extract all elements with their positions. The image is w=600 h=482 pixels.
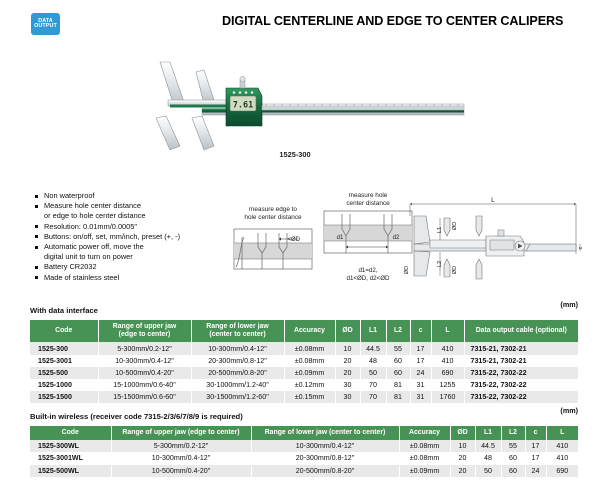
cell-d: 30 xyxy=(335,379,360,391)
svg-text:7.61: 7.61 xyxy=(233,101,253,111)
col-code: Code xyxy=(30,426,111,440)
diagram-caliper-dimensions: L L xyxy=(400,194,586,291)
cell-l2: 55 xyxy=(386,342,410,354)
cell-c: 17 xyxy=(525,440,546,452)
cell-upper: 10-500mm/0.4-20" xyxy=(111,465,251,477)
product-photo: 7.61 xyxy=(140,58,470,163)
cell-l1: 44.5 xyxy=(360,342,386,354)
cell-l2: 60 xyxy=(501,465,525,477)
list-item: Non waterproof xyxy=(34,191,234,201)
table-row: 1525-3001 10-300mm/0.4-12" 20-300mm/0.8-… xyxy=(30,355,578,367)
cell-c: 17 xyxy=(525,452,546,464)
cell-l1: 50 xyxy=(360,367,386,379)
col-l1: L1 xyxy=(360,320,386,342)
cell-l2: 60 xyxy=(386,355,410,367)
col-l: L xyxy=(546,426,578,440)
cell-lower: 10-300mm/0.4-12" xyxy=(191,342,284,354)
col-cable: Data output cable (optional) xyxy=(464,320,578,342)
cell-code: 1525-1500 xyxy=(30,391,98,403)
table-with-data-interface: With data interface (mm) Code Range of u… xyxy=(30,300,578,403)
diagram-OD-label-1: ØD xyxy=(452,222,458,230)
cell-c: 24 xyxy=(410,367,431,379)
table-row: 1525-500 10-500mm/0.4-20" 20-500mm/0.8-2… xyxy=(30,367,578,379)
col-diameter: ØD xyxy=(335,320,360,342)
cell-code: 1525-3001 xyxy=(30,355,98,367)
list-item: Buttons: on/off, set, mm/inch, preset (+… xyxy=(34,232,234,242)
col-l2: L2 xyxy=(386,320,410,342)
table-row: 1525-1000 15-1000mm/0.6-40" 30-1000mm/1.… xyxy=(30,379,578,391)
data-output-badge: DATA OUTPUT xyxy=(31,13,60,35)
cell-l: 1255 xyxy=(431,379,464,391)
cell-cable: 7315-21, 7302-21 xyxy=(464,355,578,367)
list-item: Automatic power off, move the xyxy=(34,242,234,252)
cell-l1: 70 xyxy=(360,391,386,403)
cell-code: 1525-1000 xyxy=(30,379,98,391)
list-item-cont: digital unit to turn on power xyxy=(34,252,234,262)
cell-lower: 30-1000mm/1.2-40" xyxy=(191,379,284,391)
cell-d: 20 xyxy=(335,355,360,367)
diagram-L-label: L xyxy=(491,197,495,204)
cell-code: 1525-300WL xyxy=(30,440,111,452)
cell-cable: 7315-22, 7302-22 xyxy=(464,391,578,403)
diagram-L2-label: L2 xyxy=(437,261,443,267)
cell-lower: 30-1500mm/1.2-60" xyxy=(191,391,284,403)
cell-accuracy: ±0.08mm xyxy=(399,440,450,452)
col-upper-jaw-l1: Range of upper jaw xyxy=(100,323,190,331)
cell-lower: 10-300mm/0.4-12" xyxy=(251,440,399,452)
cell-accuracy: ±0.09mm xyxy=(284,367,335,379)
cell-l: 410 xyxy=(546,452,578,464)
list-item: Resolution: 0.01mm/0.0005" xyxy=(34,222,234,232)
col-lower-jaw: Range of lower jaw (center to center) xyxy=(191,320,284,342)
cell-accuracy: ±0.08mm xyxy=(399,452,450,464)
col-upper-jaw: Range of upper jaw (edge to center) xyxy=(111,426,251,440)
col-c: c xyxy=(525,426,546,440)
diagram-d2-label: d2 xyxy=(393,235,400,241)
cell-accuracy: ±0.12mm xyxy=(284,379,335,391)
cell-cable: 7315-21, 7302-21 xyxy=(464,342,578,354)
col-diameter: ØD xyxy=(450,426,475,440)
cell-l2: 81 xyxy=(386,379,410,391)
cell-l1: 44.5 xyxy=(475,440,501,452)
cell-accuracy: ±0.08mm xyxy=(284,355,335,367)
cell-accuracy: ±0.08mm xyxy=(284,342,335,354)
cell-c: 31 xyxy=(410,391,431,403)
table2-title: Built-in wireless (receiver code 7315-2/… xyxy=(30,412,243,421)
cell-d: 20 xyxy=(450,452,475,464)
diagram-OD-label-3: ØD xyxy=(404,266,410,274)
col-l2: L2 xyxy=(501,426,525,440)
cell-upper: 15-1000mm/0.6-40" xyxy=(98,379,191,391)
cell-upper: 5-300mm/0.2-12" xyxy=(98,342,191,354)
col-lower-jaw: Range of lower jaw (center to center) xyxy=(251,426,399,440)
diagram-c-label: c xyxy=(578,246,584,249)
cell-l2: 55 xyxy=(501,440,525,452)
cell-upper: 10-500mm/0.4-20" xyxy=(98,367,191,379)
cell-l2: 81 xyxy=(386,391,410,403)
col-lower-jaw-l2: (center to center) xyxy=(193,331,283,339)
cell-code: 1525-500WL xyxy=(30,465,111,477)
col-l1: L1 xyxy=(475,426,501,440)
cell-code: 1525-300 xyxy=(30,342,98,354)
col-upper-jaw: Range of upper jaw (edge to center) xyxy=(98,320,191,342)
col-accuracy: Accuracy xyxy=(399,426,450,440)
cell-l: 410 xyxy=(431,342,464,354)
list-item: Made of stainless steel xyxy=(34,273,234,283)
col-upper-jaw-l2: (edge to center) xyxy=(100,331,190,339)
cell-upper: 15-1500mm/0.6-60" xyxy=(98,391,191,403)
cell-l2: 60 xyxy=(386,367,410,379)
cell-upper: 10-300mm/0.4-12" xyxy=(98,355,191,367)
cell-upper: 5-300mm/0.2-12" xyxy=(111,440,251,452)
cell-lower: 20-300mm/0.8-12" xyxy=(251,452,399,464)
cell-lower: 20-500mm/0.8-20" xyxy=(191,367,284,379)
cell-d: 20 xyxy=(335,367,360,379)
cell-cable: 7315-22, 7302-22 xyxy=(464,367,578,379)
cell-l1: 48 xyxy=(475,452,501,464)
col-lower-jaw-l1: Range of lower jaw xyxy=(193,323,283,331)
table2-unit: (mm) xyxy=(560,406,578,415)
table-row: 1525-300WL 5-300mm/0.2-12" 10-300mm/0.4-… xyxy=(30,440,578,452)
cell-c: 31 xyxy=(410,379,431,391)
diagram-edge-caption-2: hole center distance xyxy=(232,214,314,222)
cell-cable: 7315-22, 7302-22 xyxy=(464,379,578,391)
table2-header-row: Code Range of upper jaw (edge to center)… xyxy=(30,426,578,440)
diagram-edge-caption-1: measure edge to xyxy=(232,206,314,214)
technical-diagrams: measure edge to hole center distance <ØD xyxy=(228,192,588,287)
cell-c: 17 xyxy=(410,342,431,354)
data-output-badge-line2: OUTPUT xyxy=(34,24,57,29)
cell-accuracy: ±0.15mm xyxy=(284,391,335,403)
cell-lower: 20-300mm/0.8-12" xyxy=(191,355,284,367)
cell-d: 30 xyxy=(335,391,360,403)
col-c: c xyxy=(410,320,431,342)
table-built-in-wireless: Built-in wireless (receiver code 7315-2/… xyxy=(30,406,578,477)
cell-l: 410 xyxy=(431,355,464,367)
feature-list: Non waterproof Measure hole center dista… xyxy=(34,191,234,283)
table2-body: 1525-300WL 5-300mm/0.2-12" 10-300mm/0.4-… xyxy=(30,440,578,477)
list-item: Measure hole center distance xyxy=(34,201,234,211)
cell-d: 20 xyxy=(450,465,475,477)
cell-d: 10 xyxy=(450,440,475,452)
table1-title: With data interface xyxy=(30,306,98,315)
table1-body: 1525-300 5-300mm/0.2-12" 10-300mm/0.4-12… xyxy=(30,342,578,403)
table-row: 1525-300 5-300mm/0.2-12" 10-300mm/0.4-12… xyxy=(30,342,578,354)
cell-l: 1760 xyxy=(431,391,464,403)
diagram-L1-label: L1 xyxy=(437,227,443,233)
cell-l: 690 xyxy=(546,465,578,477)
cell-d: 10 xyxy=(335,342,360,354)
diagram-d1-label: d1 xyxy=(337,235,344,241)
cell-l: 410 xyxy=(546,440,578,452)
cell-upper: 10-300mm/0.4-12" xyxy=(111,452,251,464)
cell-l1: 48 xyxy=(360,355,386,367)
cell-accuracy: ±0.09mm xyxy=(399,465,450,477)
list-item: Battery CR2032 xyxy=(34,262,234,272)
catalog-page: DATA OUTPUT DIGITAL CENTERLINE AND EDGE … xyxy=(0,0,600,482)
col-l: L xyxy=(431,320,464,342)
table-row: 1525-1500 15-1500mm/0.6-60" 30-1500mm/1.… xyxy=(30,391,578,403)
cell-lower: 20-500mm/0.8-20" xyxy=(251,465,399,477)
table-row: 1525-3001WL 10-300mm/0.4-12" 20-300mm/0.… xyxy=(30,452,578,464)
page-header: DATA OUTPUT DIGITAL CENTERLINE AND EDGE … xyxy=(0,0,600,46)
specs-table-wireless: Code Range of upper jaw (edge to center)… xyxy=(30,426,578,477)
diagram-OD-label-2: ØD xyxy=(452,266,458,274)
cell-l2: 60 xyxy=(501,452,525,464)
table1-header-row: Code Range of upper jaw (edge to center)… xyxy=(30,320,578,342)
page-title: DIGITAL CENTERLINE AND EDGE TO CENTER CA… xyxy=(222,14,563,28)
diagram-left-label: <ØD xyxy=(287,237,300,243)
cell-l1: 70 xyxy=(360,379,386,391)
col-code: Code xyxy=(30,320,98,342)
col-accuracy: Accuracy xyxy=(284,320,335,342)
diagram-edge-to-hole: measure edge to hole center distance <ØD xyxy=(232,206,314,276)
product-caption: 1525-300 xyxy=(240,150,350,159)
cell-code: 1525-500 xyxy=(30,367,98,379)
cell-c: 17 xyxy=(410,355,431,367)
cell-code: 1525-3001WL xyxy=(30,452,111,464)
table1-unit: (mm) xyxy=(560,300,578,309)
cell-l: 690 xyxy=(431,367,464,379)
cell-c: 24 xyxy=(525,465,546,477)
table-row: 1525-500WL 10-500mm/0.4-20" 20-500mm/0.8… xyxy=(30,465,578,477)
list-item-cont: or edge to hole center distance xyxy=(34,211,234,221)
specs-table-data-interface: Code Range of upper jaw (edge to center)… xyxy=(30,320,578,403)
cell-l1: 50 xyxy=(475,465,501,477)
